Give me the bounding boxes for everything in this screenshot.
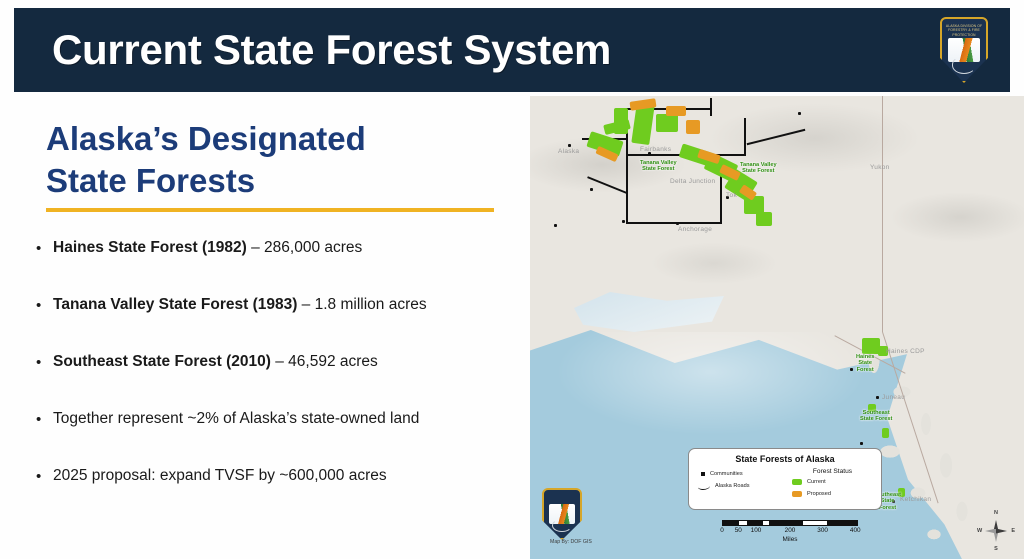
map-community-dot bbox=[590, 188, 593, 191]
bullet-marker: • bbox=[36, 409, 53, 430]
compass-east-label: E bbox=[1011, 528, 1015, 534]
map-road bbox=[710, 98, 712, 116]
proposed-forest-swatch-icon bbox=[792, 491, 802, 497]
shield-badge-text: ALASKA DIVISION OF FORESTRY & FIRE PROTE… bbox=[942, 24, 986, 37]
forest-polygon-proposed bbox=[686, 120, 700, 134]
map-place-label: Ketchikan bbox=[900, 496, 931, 503]
map-credit: Map By: DOF GIS bbox=[550, 539, 592, 545]
bullet-marker: • bbox=[36, 466, 53, 487]
bullet-text: 2025 proposal: expand TVSF by ~600,000 a… bbox=[53, 466, 528, 487]
map-community-dot bbox=[860, 442, 863, 445]
map-place-label: Haines CDP bbox=[886, 348, 925, 355]
compass-north-label: N bbox=[994, 510, 998, 516]
bullet-text: Tanana Valley State Forest (1983) – 1.8 … bbox=[53, 295, 528, 316]
scalebar-tick: 0 bbox=[720, 527, 724, 534]
legend-label: Alaska Roads bbox=[715, 483, 750, 489]
bullet-rest: 2025 proposal: expand TVSF by ~600,000 a… bbox=[53, 467, 387, 484]
legend-label: Communities bbox=[710, 471, 743, 477]
current-forest-swatch-icon bbox=[792, 479, 802, 485]
title-underline-rule bbox=[46, 208, 494, 212]
scalebar-segment bbox=[803, 521, 827, 525]
scalebar-tick: 50 bbox=[735, 527, 742, 534]
bullet-rest: Together represent ~2% of Alaska’s state… bbox=[53, 410, 419, 427]
scalebar-segment bbox=[747, 521, 763, 525]
map-legend: State Forests of Alaska Communities Alas… bbox=[688, 448, 882, 510]
bullet-bold: Tanana Valley State Forest (1983) bbox=[53, 296, 297, 313]
compass-west-label: W bbox=[977, 528, 982, 534]
list-item: • Haines State Forest (1982) – 286,000 a… bbox=[36, 238, 528, 295]
bullet-rest: – 286,000 acres bbox=[247, 239, 362, 256]
bullet-text: Together represent ~2% of Alaska’s state… bbox=[53, 409, 528, 430]
forest-polygon-proposed bbox=[666, 106, 686, 116]
bullet-text: Haines State Forest (1982) – 286,000 acr… bbox=[53, 238, 528, 259]
alaska-state-forests-map: Alaska Yukon Delta Junction Fairbanks An… bbox=[530, 96, 1024, 559]
section-subtitle: Alaska’s Designated State Forests bbox=[46, 118, 506, 202]
community-dot-icon bbox=[701, 472, 705, 476]
legend-item-proposed: Proposed bbox=[792, 488, 873, 500]
map-place-label: Fairbanks bbox=[640, 146, 671, 153]
map-place-label: Tok bbox=[726, 192, 737, 199]
shield-emblem-swirl bbox=[952, 56, 977, 73]
forestry-shield-icon-small bbox=[542, 488, 582, 540]
map-region-label: Alaska bbox=[558, 148, 579, 155]
subtitle-line-2: State Forests bbox=[46, 160, 506, 202]
map-community-dot bbox=[798, 112, 801, 115]
slide-header: Current State Forest System ALASKA DIVIS… bbox=[14, 8, 1010, 92]
forest-name-label: Haines State Forest bbox=[856, 354, 874, 373]
map-road bbox=[626, 154, 628, 224]
map-road bbox=[744, 118, 746, 156]
bullet-bold: Southeast State Forest (2010) bbox=[53, 353, 271, 370]
scalebar-segment bbox=[769, 521, 804, 525]
bullet-marker: • bbox=[36, 295, 53, 316]
map-region-label: Yukon bbox=[870, 164, 890, 171]
scalebar-tick: 200 bbox=[785, 527, 796, 534]
legend-item-communities: Communities bbox=[697, 468, 792, 480]
legend-label: Current bbox=[807, 479, 826, 485]
scalebar-ticks: 0 50 100 200 300 400 bbox=[722, 527, 858, 537]
scalebar-segment bbox=[827, 521, 856, 525]
map-place-label: Anchorage bbox=[678, 226, 712, 233]
map-community-dot bbox=[622, 220, 625, 223]
map-border-east bbox=[882, 96, 883, 332]
map-place-label: Juneau bbox=[882, 394, 905, 401]
scalebar-tick: 400 bbox=[850, 527, 861, 534]
slide: Current State Forest System ALASKA DIVIS… bbox=[0, 0, 1024, 559]
scalebar-unit: Miles bbox=[722, 536, 858, 543]
list-item: • 2025 proposal: expand TVSF by ~600,000… bbox=[36, 466, 528, 523]
scalebar-tick: 300 bbox=[817, 527, 828, 534]
forestry-shield-icon: ALASKA DIVISION OF FORESTRY & FIRE PROTE… bbox=[940, 17, 988, 83]
scalebar-tick: 100 bbox=[751, 527, 762, 534]
bullet-rest: – 1.8 million acres bbox=[297, 296, 426, 313]
scalebar-track bbox=[722, 520, 858, 526]
map-road bbox=[626, 222, 722, 224]
list-item: • Southeast State Forest (2010) – 46,592… bbox=[36, 352, 528, 409]
legend-item-roads: Alaska Roads bbox=[697, 480, 792, 492]
map-community-dot bbox=[876, 396, 879, 399]
cut-off-footer-text bbox=[330, 550, 730, 559]
forest-polygon-current bbox=[614, 108, 628, 134]
map-road bbox=[720, 174, 722, 224]
shield-emblem-swirl bbox=[552, 519, 572, 532]
bullet-bold: Haines State Forest (1982) bbox=[53, 239, 247, 256]
subtitle-line-1: Alaska’s Designated bbox=[46, 118, 506, 160]
forest-name-label: Southeast State Forest bbox=[860, 410, 892, 423]
legend-symbols-column: Communities Alaska Roads bbox=[697, 468, 792, 500]
bullet-marker: • bbox=[36, 352, 53, 373]
scalebar-segment bbox=[739, 521, 747, 525]
legend-status-column: Forest Status Current Proposed bbox=[792, 468, 873, 500]
forest-polygon-current bbox=[656, 114, 678, 132]
road-line-icon bbox=[698, 483, 710, 490]
map-community-dot bbox=[568, 144, 571, 147]
scalebar-segment bbox=[723, 521, 739, 525]
page-title: Current State Forest System bbox=[52, 26, 611, 74]
legend-item-current: Current bbox=[792, 476, 873, 488]
compass-rose-icon: N E S W bbox=[976, 509, 1016, 553]
forest-polygon-current bbox=[756, 212, 772, 226]
map-community-dot bbox=[554, 224, 557, 227]
forest-name-label: Tanana Valley State Forest bbox=[740, 162, 777, 175]
map-scalebar: 0 50 100 200 300 400 Miles bbox=[722, 520, 858, 543]
bullet-list: • Haines State Forest (1982) – 286,000 a… bbox=[36, 238, 528, 523]
map-community-dot bbox=[676, 222, 679, 225]
legend-title: State Forests of Alaska bbox=[689, 454, 881, 464]
legend-status-title: Forest Status bbox=[792, 468, 873, 475]
list-item: • Tanana Valley State Forest (1983) – 1.… bbox=[36, 295, 528, 352]
forest-polygon-current bbox=[882, 428, 889, 438]
bullet-rest: – 46,592 acres bbox=[271, 353, 378, 370]
legend-label: Proposed bbox=[807, 491, 831, 497]
compass-south-label: S bbox=[994, 546, 998, 552]
bullet-text: Southeast State Forest (2010) – 46,592 a… bbox=[53, 352, 528, 373]
bullet-marker: • bbox=[36, 238, 53, 259]
forest-name-label: Tanana Valley State Forest bbox=[640, 160, 677, 173]
map-place-label: Delta Junction bbox=[670, 178, 715, 185]
map-community-dot bbox=[850, 368, 853, 371]
list-item: • Together represent ~2% of Alaska’s sta… bbox=[36, 409, 528, 466]
